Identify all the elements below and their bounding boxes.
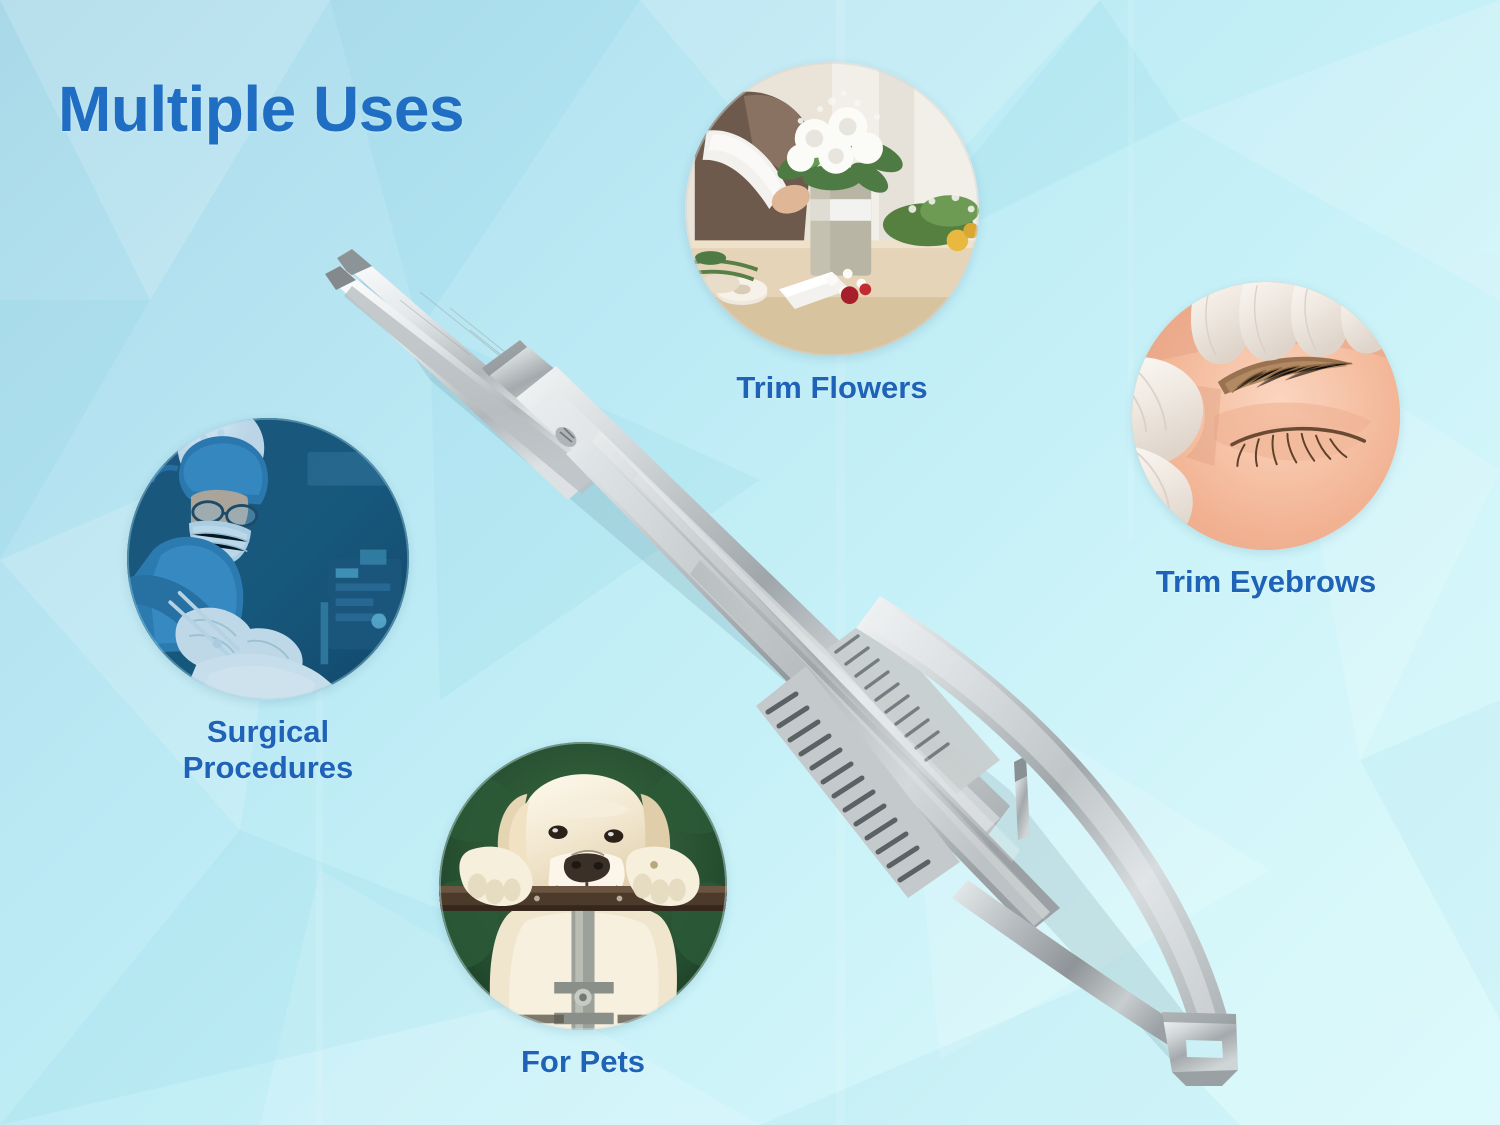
feature-image-flowers — [685, 62, 979, 356]
feature-for-pets: For Pets — [438, 742, 728, 1080]
feature-trim-flowers: Trim Flowers — [662, 62, 1002, 406]
feature-label-pets: For Pets — [438, 1044, 728, 1080]
page-title: Multiple Uses — [58, 72, 464, 146]
feature-surgical-procedures: Surgical Procedures — [118, 418, 418, 786]
feature-image-pets — [439, 742, 727, 1030]
feature-trim-eyebrows: Trim Eyebrows — [1076, 282, 1456, 600]
feature-image-surgical — [127, 418, 409, 700]
feature-label-surgical: Surgical Procedures — [118, 714, 418, 786]
feature-label-eyebrows: Trim Eyebrows — [1076, 564, 1456, 600]
feature-label-flowers: Trim Flowers — [662, 370, 1002, 406]
feature-image-eyebrows — [1132, 282, 1400, 550]
